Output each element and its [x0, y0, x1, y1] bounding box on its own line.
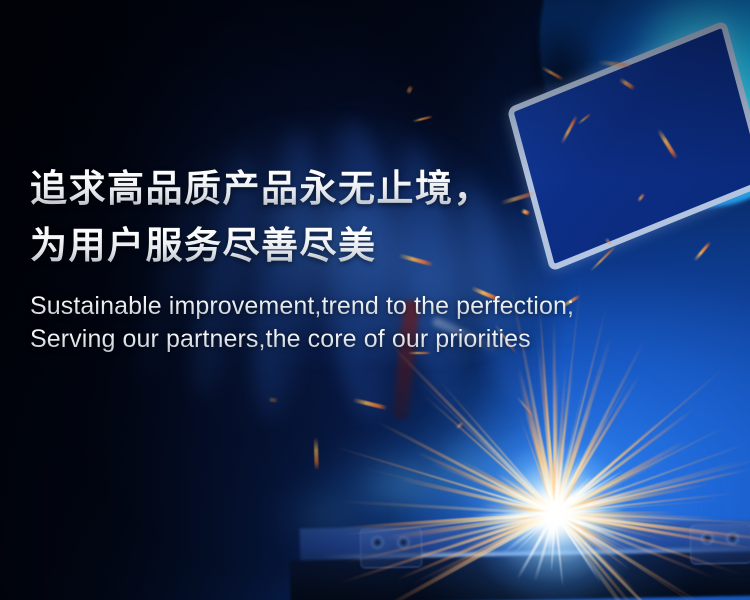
spark — [406, 85, 413, 95]
spark — [598, 60, 632, 67]
spark — [541, 66, 564, 81]
spark — [656, 128, 678, 160]
spark — [314, 437, 319, 470]
helmet-shadow — [505, 0, 615, 150]
headline-chinese: 追求高品质产品永无止境， 为用户服务尽善尽美 — [30, 160, 730, 274]
spark — [618, 77, 636, 90]
spark — [268, 397, 278, 402]
spark — [352, 398, 388, 410]
subheadline-line-2: Serving our partners,the core of our pri… — [30, 323, 730, 356]
helmet-glow — [600, 0, 750, 150]
spark — [560, 114, 578, 144]
headline-line-2: 为用户服务尽善尽美 — [30, 217, 730, 274]
subheadline-line-1: Sustainable improvement,trend to the per… — [30, 290, 730, 323]
spark — [577, 113, 591, 125]
hero-copy: 追求高品质产品永无止境， 为用户服务尽善尽美 Sustainable impro… — [30, 160, 730, 356]
welding-hero-banner: 追求高品质产品永无止境， 为用户服务尽善尽美 Sustainable impro… — [0, 0, 750, 600]
headline-line-1: 追求高品质产品永无止境， — [30, 160, 730, 217]
spark — [412, 115, 433, 122]
subheadline-english: Sustainable improvement,trend to the per… — [30, 290, 730, 356]
